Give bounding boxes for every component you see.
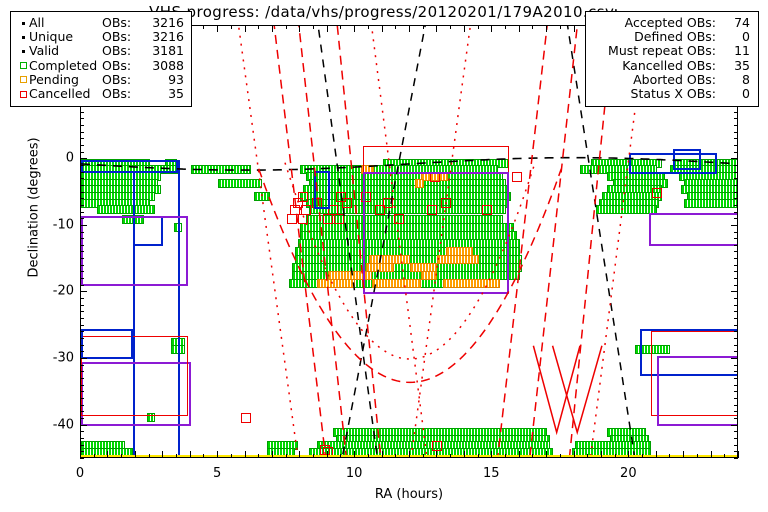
legend-obs-word: OBs: (102, 16, 140, 30)
x-tick-top (409, 25, 410, 32)
y-tick-left (80, 271, 84, 272)
legend-dot-icon (17, 50, 29, 53)
y-tick-left (80, 318, 84, 319)
y-tick-right (734, 251, 738, 252)
y-tick-right (734, 265, 738, 266)
x-tick-top (436, 25, 437, 32)
legend-obs-word: OBs: (102, 73, 140, 87)
y-tick-left (80, 325, 84, 326)
y-tick-right (734, 385, 738, 386)
y-tick-right (734, 418, 738, 419)
y-tick-right (734, 398, 738, 399)
x-tick-bottom (669, 454, 670, 458)
y-tick-left (80, 232, 84, 233)
y-tick-left (80, 298, 84, 299)
x-tick-top (231, 25, 232, 29)
x-tick-top (203, 25, 204, 29)
statistics-row: Defined OBs:0 (594, 30, 750, 44)
y-tick-left (80, 185, 84, 186)
legend-row: AllOBs:3216 (17, 16, 184, 30)
x-tick-top (464, 25, 465, 32)
legend-label: Valid (29, 44, 102, 58)
y-tick-left (80, 112, 84, 113)
y-tick-right (734, 345, 738, 346)
y-tick-left (80, 225, 87, 226)
statistics-label: Status X OBs: (594, 87, 716, 101)
x-tick-top (327, 25, 328, 32)
x-tick-top (286, 25, 287, 29)
x-tick-top (395, 25, 396, 29)
legend-row: UniqueOBs:3216 (17, 30, 184, 44)
legend-row: PendingOBs:93 (17, 73, 184, 87)
legend-count: 93 (140, 73, 184, 87)
y-tick-right (734, 125, 738, 126)
y-tick-left (80, 118, 84, 119)
y-tick-left (80, 458, 84, 459)
x-tick-bottom (724, 454, 725, 458)
y-tick-right (734, 305, 738, 306)
y-tick-right (734, 118, 738, 119)
y-tick-right (731, 225, 738, 226)
y-tick-right (734, 212, 738, 213)
y-tick-label: -30 (34, 351, 74, 366)
legend-obs-word: OBs: (102, 59, 140, 73)
y-tick-left (80, 365, 84, 366)
y-tick-left (80, 371, 84, 372)
x-tick-top (423, 25, 424, 29)
statistics-label: Aborted OBs: (594, 73, 716, 87)
sky-curve (285, 163, 535, 359)
legend-obs-word: OBs: (102, 87, 140, 101)
x-tick-label: 0 (76, 466, 84, 481)
x-tick-bottom (313, 454, 314, 458)
y-tick-left (80, 192, 84, 193)
legend-count: 3181 (140, 44, 184, 58)
x-tick-bottom (258, 454, 259, 458)
x-tick-bottom (203, 454, 204, 458)
sky-curve (81, 158, 736, 171)
square-icon (20, 62, 27, 69)
y-tick-left (80, 345, 84, 346)
legend-square-icon (17, 91, 29, 98)
x-tick-bottom (683, 451, 684, 458)
x-tick-bottom (628, 451, 629, 458)
y-tick-left (80, 451, 84, 452)
statistics-row: Accepted OBs:74 (594, 16, 750, 30)
x-tick-bottom (711, 451, 712, 458)
legend-dot-icon (17, 22, 29, 25)
legend-label: Pending (29, 73, 102, 87)
x-tick-bottom (532, 454, 533, 458)
y-tick-left (80, 238, 84, 239)
x-tick-bottom (601, 451, 602, 458)
y-tick-left (80, 331, 84, 332)
x-tick-bottom (574, 451, 575, 458)
y-tick-right (734, 405, 738, 406)
statistics-label: Must repeat OBs: (594, 44, 716, 58)
x-tick-top (519, 25, 520, 32)
x-tick-bottom (340, 454, 341, 458)
y-tick-right (734, 318, 738, 319)
square-icon (20, 91, 27, 98)
dot-icon (22, 36, 25, 39)
y-tick-right (734, 325, 738, 326)
y-tick-right (731, 158, 738, 159)
x-tick-bottom (286, 454, 287, 458)
x-tick-bottom (519, 451, 520, 458)
x-tick-bottom (354, 451, 355, 458)
x-tick-top (217, 25, 218, 32)
legend-label: Unique (29, 30, 102, 44)
x-tick-top (505, 25, 506, 29)
x-tick-bottom (217, 451, 218, 458)
statistics-value: 74 (716, 16, 750, 30)
y-tick-right (734, 338, 738, 339)
y-tick-left (80, 425, 87, 426)
statistics-label: Defined OBs: (594, 30, 716, 44)
x-tick-bottom (149, 454, 150, 458)
y-tick-left (80, 125, 84, 126)
y-tick-right (734, 205, 738, 206)
y-tick-left (80, 218, 84, 219)
x-tick-bottom (697, 454, 698, 458)
x-tick-top (478, 25, 479, 29)
y-tick-left (80, 165, 84, 166)
legend-dot-icon (17, 36, 29, 39)
dot-icon (22, 50, 25, 53)
x-tick-bottom (546, 451, 547, 458)
x-tick-top (450, 25, 451, 29)
x-tick-label: 10 (346, 466, 363, 481)
x-tick-bottom (491, 451, 492, 458)
legend-obs-word: OBs: (102, 30, 140, 44)
y-tick-left (80, 431, 84, 432)
y-tick-left (80, 145, 84, 146)
x-tick-bottom (478, 454, 479, 458)
legend-count: 3216 (140, 16, 184, 30)
statistics-label: Accepted OBs: (594, 16, 716, 30)
legend-label: Completed (29, 59, 102, 73)
y-tick-left (80, 391, 84, 392)
y-tick-left (80, 418, 84, 419)
x-tick-bottom (245, 451, 246, 458)
y-tick-right (734, 451, 738, 452)
y-tick-right (734, 431, 738, 432)
x-tick-bottom (738, 451, 739, 458)
statistics-value: 0 (716, 87, 750, 101)
y-tick-left (80, 258, 84, 259)
y-tick-right (734, 445, 738, 446)
legend-count: 3088 (140, 59, 184, 73)
y-tick-right (734, 331, 738, 332)
legend-square-icon (17, 76, 29, 83)
y-tick-left (80, 291, 87, 292)
x-tick-bottom (121, 454, 122, 458)
y-tick-right (734, 371, 738, 372)
statistics-row: Status X OBs:0 (594, 87, 750, 101)
legend-row: ValidOBs:3181 (17, 44, 184, 58)
statistics-row: Aborted OBs:8 (594, 73, 750, 87)
sky-curve (334, 26, 429, 457)
dot-icon (22, 22, 25, 25)
y-tick-left (80, 132, 84, 133)
legend-label: Cancelled (29, 87, 102, 101)
x-tick-bottom (560, 454, 561, 458)
y-tick-right (734, 112, 738, 113)
x-tick-top (546, 25, 547, 32)
y-tick-right (734, 278, 738, 279)
y-tick-left (80, 358, 87, 359)
x-tick-top (299, 25, 300, 32)
x-tick-bottom (587, 454, 588, 458)
sky-curve (334, 26, 383, 457)
y-tick-right (734, 271, 738, 272)
y-tick-left (80, 385, 84, 386)
y-tick-left (80, 398, 84, 399)
y-tick-left (80, 138, 84, 139)
y-tick-right (734, 178, 738, 179)
y-tick-left (80, 265, 84, 266)
x-tick-bottom (642, 454, 643, 458)
y-tick-left (80, 405, 84, 406)
sky-curve (272, 26, 328, 457)
y-tick-right (734, 198, 738, 199)
y-tick-right (734, 391, 738, 392)
y-tick-right (731, 358, 738, 359)
legend-count: 3216 (140, 30, 184, 44)
x-tick-bottom (450, 454, 451, 458)
x-tick-label: 20 (620, 466, 637, 481)
y-tick-right (734, 298, 738, 299)
y-tick-right (734, 245, 738, 246)
statistics-panel: Accepted OBs:74Defined OBs:0Must repeat … (585, 11, 759, 107)
x-axis-title: RA (hours) (80, 487, 738, 502)
x-tick-bottom (272, 451, 273, 458)
x-tick-label: 5 (213, 466, 221, 481)
x-tick-top (354, 25, 355, 32)
x-tick-bottom (656, 451, 657, 458)
y-tick-right (734, 232, 738, 233)
y-tick-left (80, 378, 84, 379)
sky-curve (496, 26, 552, 457)
y-tick-right (734, 192, 738, 193)
statistics-row: Kancelled OBs:35 (594, 59, 750, 73)
y-tick-left (80, 278, 84, 279)
square-icon (20, 76, 27, 83)
y-axis-title: Declination (degrees) (27, 98, 42, 318)
x-tick-top (272, 25, 273, 32)
x-tick-top (368, 25, 369, 29)
x-tick-bottom (107, 451, 108, 458)
y-tick-left (80, 172, 84, 173)
legend-row: CompletedOBs:3088 (17, 59, 184, 73)
y-tick-right (734, 165, 738, 166)
x-tick-top (382, 25, 383, 32)
statistics-row: Must repeat OBs:11 (594, 44, 750, 58)
y-tick-left (80, 305, 84, 306)
y-tick-right (734, 132, 738, 133)
sky-curve (528, 26, 581, 457)
statistics-label: Kancelled OBs: (594, 59, 716, 73)
y-tick-right (734, 311, 738, 312)
x-tick-bottom (162, 451, 163, 458)
y-tick-left (80, 311, 84, 312)
y-tick-left (80, 351, 84, 352)
y-tick-left (80, 178, 84, 179)
x-tick-bottom (409, 451, 410, 458)
y-tick-right (734, 145, 738, 146)
statistics-value: 0 (716, 30, 750, 44)
y-tick-left (80, 198, 84, 199)
x-tick-top (532, 25, 533, 29)
x-tick-bottom (615, 454, 616, 458)
x-tick-bottom (505, 454, 506, 458)
sky-curve (367, 26, 430, 457)
legend-obs-word: OBs: (102, 44, 140, 58)
x-tick-bottom (231, 454, 232, 458)
statistics-value: 8 (716, 73, 750, 87)
legend-panel: AllOBs:3216UniqueOBs:3216ValidOBs:3181Co… (10, 11, 192, 107)
x-tick-bottom (464, 451, 465, 458)
y-tick-right (734, 458, 738, 459)
x-tick-top (258, 25, 259, 29)
legend-row: CancelledOBs:35 (17, 87, 184, 101)
x-tick-top (560, 25, 561, 29)
x-tick-bottom (135, 451, 136, 458)
x-tick-bottom (436, 451, 437, 458)
x-tick-bottom (382, 451, 383, 458)
sky-curve (236, 26, 302, 457)
statistics-value: 35 (716, 59, 750, 73)
y-tick-right (731, 425, 738, 426)
x-tick-bottom (327, 451, 328, 458)
y-tick-left (80, 285, 84, 286)
y-tick-left (80, 445, 84, 446)
y-tick-left (80, 158, 87, 159)
y-tick-right (734, 351, 738, 352)
y-tick-left (80, 205, 84, 206)
y-tick-right (734, 172, 738, 173)
y-tick-left (80, 411, 84, 412)
y-tick-left (80, 152, 84, 153)
y-tick-right (734, 258, 738, 259)
y-tick-right (731, 291, 738, 292)
x-tick-top (340, 25, 341, 29)
x-tick-bottom (176, 454, 177, 458)
y-tick-left (80, 338, 84, 339)
x-tick-label: 15 (483, 466, 500, 481)
y-tick-right (734, 218, 738, 219)
y-tick-left (80, 251, 84, 252)
y-tick-label: -40 (34, 417, 74, 432)
y-tick-left (80, 212, 84, 213)
x-tick-top (245, 25, 246, 32)
x-tick-bottom (94, 454, 95, 458)
y-tick-right (734, 138, 738, 139)
y-tick-left (80, 438, 84, 439)
y-tick-right (734, 238, 738, 239)
legend-count: 35 (140, 87, 184, 101)
statistics-value: 11 (716, 44, 750, 58)
sky-curve (315, 26, 381, 457)
sky-curve (407, 26, 476, 457)
y-tick-right (734, 411, 738, 412)
y-tick-right (734, 378, 738, 379)
x-tick-bottom (299, 451, 300, 458)
y-tick-left (80, 245, 84, 246)
legend-square-icon (17, 62, 29, 69)
sky-curve (295, 26, 351, 457)
x-tick-bottom (395, 454, 396, 458)
y-tick-right (734, 152, 738, 153)
x-tick-bottom (423, 454, 424, 458)
y-tick-right (734, 285, 738, 286)
x-tick-bottom (368, 454, 369, 458)
x-tick-top (313, 25, 314, 29)
legend-label: All (29, 16, 102, 30)
y-tick-right (734, 365, 738, 366)
x-tick-bottom (190, 451, 191, 458)
x-tick-top (574, 25, 575, 32)
y-tick-right (734, 185, 738, 186)
x-tick-top (491, 25, 492, 32)
y-tick-right (734, 438, 738, 439)
